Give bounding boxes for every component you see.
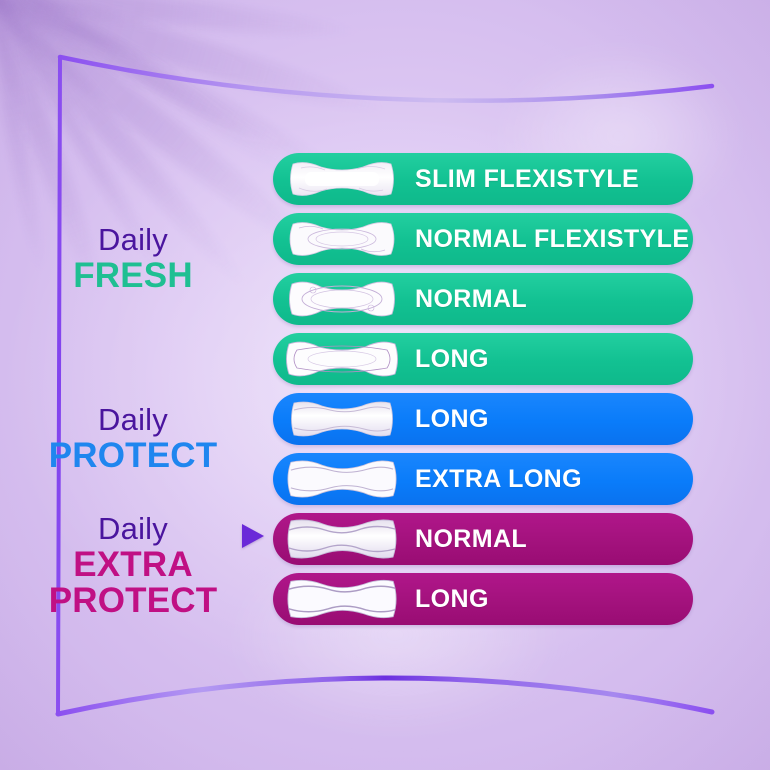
product-label: NORMAL FLEXISTYLE [415,225,689,254]
product-row[interactable]: SLIM FLEXISTYLE [273,153,693,205]
group-prefix: Daily [18,224,248,255]
group-label-daily-protect: Daily PROTECT [18,404,248,473]
product-row[interactable]: NORMAL [273,273,693,325]
group-label-daily-fresh: Daily FRESH [18,224,248,293]
pad-illustration [281,273,403,325]
product-row[interactable]: EXTRA LONG [273,453,693,505]
pad-illustration [281,513,403,565]
range-chart: Daily FRESH Daily PROTECT Daily EXTRA PR… [0,0,770,770]
pad-illustration [281,333,403,385]
infographic-canvas: Daily FRESH Daily PROTECT Daily EXTRA PR… [0,0,770,770]
group-prefix: Daily [18,404,248,435]
group-name-line2: PROTECT [18,583,248,618]
product-label: SLIM FLEXISTYLE [415,165,639,194]
group-name: EXTRA [18,547,248,582]
product-label: EXTRA LONG [415,465,582,494]
product-label: LONG [415,345,489,374]
pad-illustration [281,573,403,625]
product-row[interactable]: NORMAL FLEXISTYLE [273,213,693,265]
group-label-daily-extra-protect: Daily EXTRA PROTECT [18,513,248,618]
product-row[interactable]: NORMAL [273,513,693,565]
pad-illustration [281,153,403,205]
product-row[interactable]: LONG [273,333,693,385]
product-label: NORMAL [415,285,527,314]
pad-illustration [281,453,403,505]
product-label: LONG [415,585,489,614]
pad-illustration [281,213,403,265]
pad-illustration [281,393,403,445]
product-label: NORMAL [415,525,527,554]
product-row[interactable]: LONG [273,573,693,625]
selection-arrow-icon [242,524,264,548]
product-row[interactable]: LONG [273,393,693,445]
group-name: PROTECT [18,438,248,473]
group-name: FRESH [18,258,248,293]
group-prefix: Daily [18,513,248,544]
product-label: LONG [415,405,489,434]
